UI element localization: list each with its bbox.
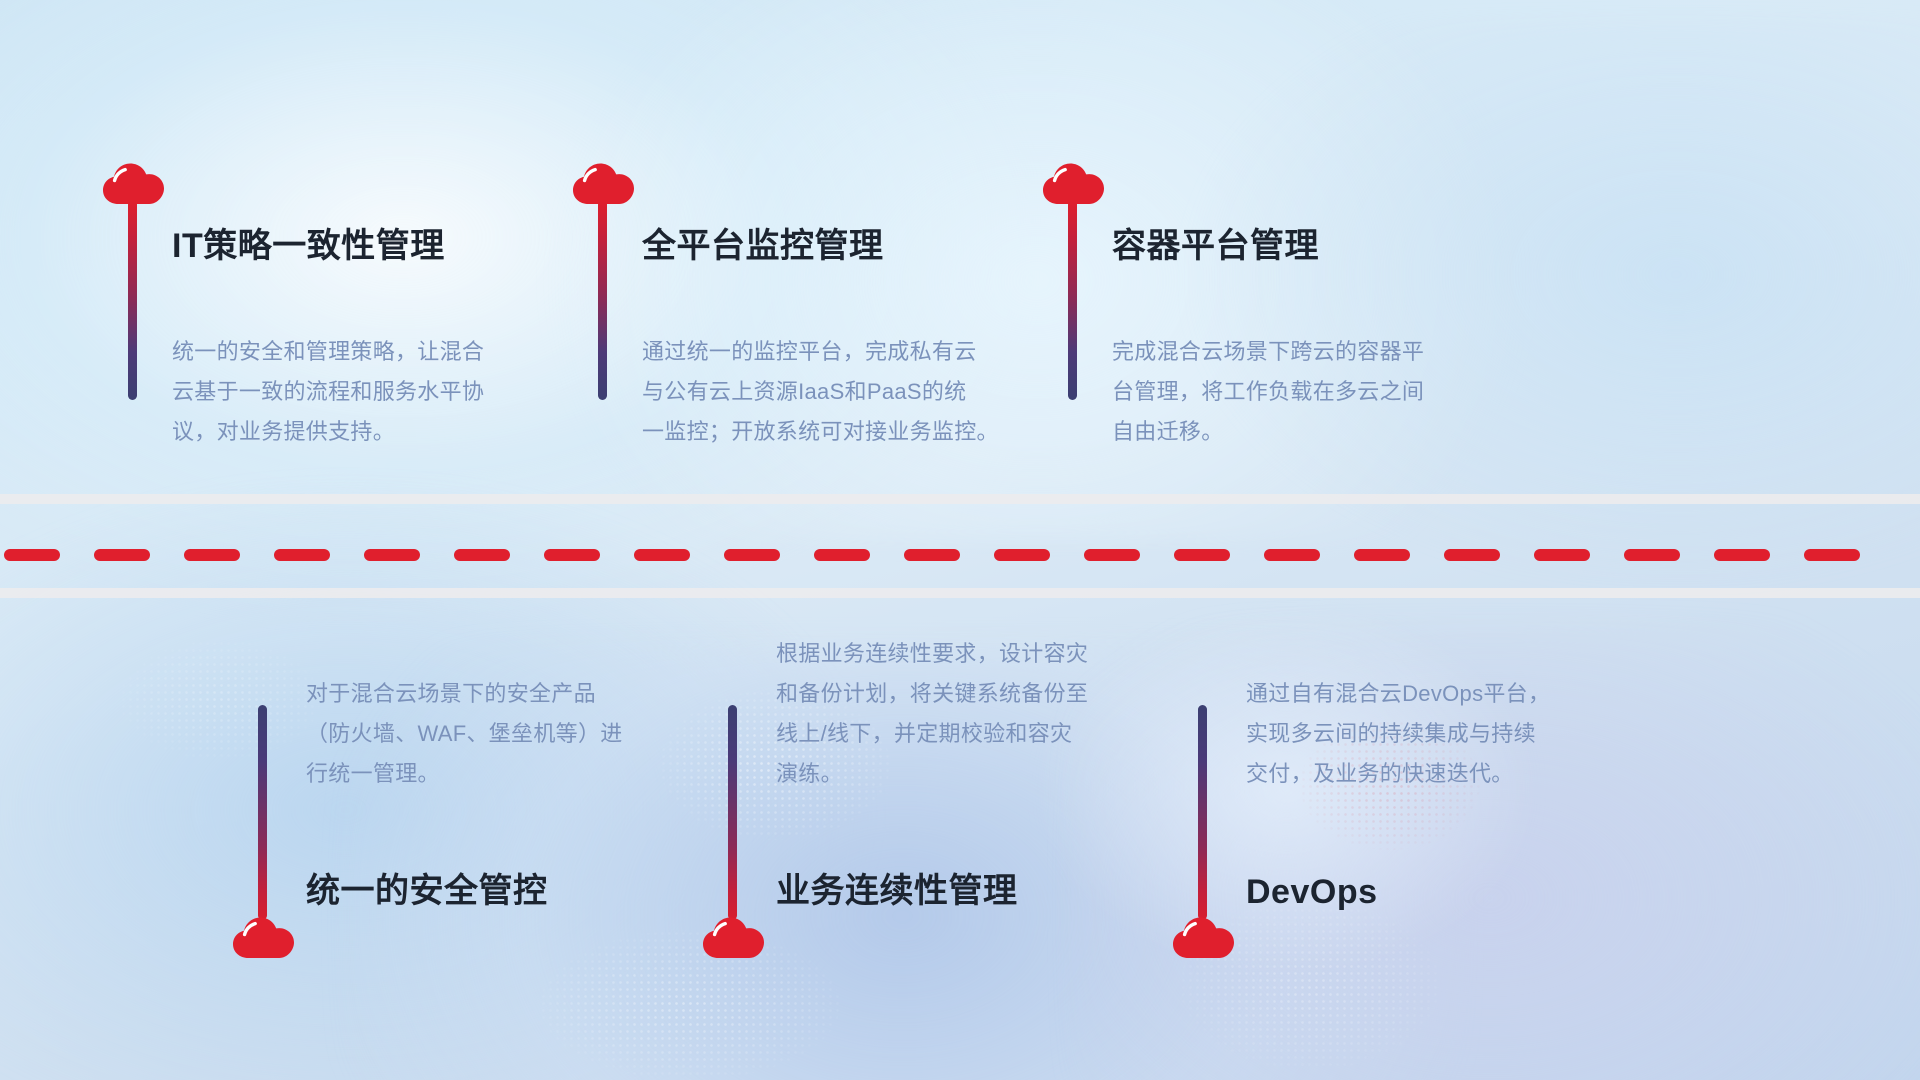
divider-dash bbox=[4, 549, 60, 561]
bottom-column-2-title: 业务连续性管理 bbox=[776, 863, 1018, 912]
divider-dash bbox=[184, 549, 240, 561]
connector-line bbox=[258, 705, 267, 920]
bottom-column-2: 根据业务连续性要求，设计容灾 和备份计划，将关键系统备份至 线上/线下，并定期校… bbox=[700, 610, 1220, 960]
bottom-column-3-body: 通过自有混合云DevOps平台， 实现多云间的持续集成与持续 交付，及业务的快速… bbox=[1246, 674, 1676, 794]
cloud-icon bbox=[230, 914, 294, 960]
top-column-2-title: 全平台监控管理 bbox=[642, 218, 884, 267]
infographic-canvas: IT策略一致性管理 统一的安全和管理策略，让混合 云基于一致的流程和服务水平协 … bbox=[0, 0, 1920, 1080]
bottom-column-3-title: DevOps bbox=[1246, 873, 1378, 912]
divider-dash bbox=[1804, 549, 1860, 561]
bottom-column-1-title: 统一的安全管控 bbox=[306, 863, 548, 912]
bottom-column-1-body: 对于混合云场景下的安全产品 （防火墙、WAF、堡垒机等）进 行统一管理。 bbox=[306, 674, 736, 794]
divider-dash bbox=[274, 549, 330, 561]
connector-line bbox=[598, 200, 607, 400]
divider-band-bottom bbox=[0, 588, 1920, 598]
divider-dash bbox=[994, 549, 1050, 561]
divider-dash bbox=[1444, 549, 1500, 561]
bottom-column-3: 通过自有混合云DevOps平台， 实现多云间的持续集成与持续 交付，及业务的快速… bbox=[1170, 610, 1690, 960]
divider-dash bbox=[364, 549, 420, 561]
divider-dash bbox=[454, 549, 510, 561]
connector-line bbox=[1068, 200, 1077, 400]
top-column-2-body: 通过统一的监控平台，完成私有云 与公有云上资源IaaS和PaaS的统 一监控；开… bbox=[642, 332, 1072, 452]
top-column-1-title: IT策略一致性管理 bbox=[172, 218, 445, 267]
connector-line bbox=[128, 200, 137, 400]
connector-line bbox=[728, 705, 737, 920]
cloud-icon bbox=[700, 914, 764, 960]
divider-dash bbox=[904, 549, 960, 561]
connector-line bbox=[1198, 705, 1207, 920]
divider-dash bbox=[1264, 549, 1320, 561]
divider-dash bbox=[1534, 549, 1590, 561]
bottom-column-1: 对于混合云场景下的安全产品 （防火墙、WAF、堡垒机等）进 行统一管理。 统一的… bbox=[230, 610, 750, 960]
divider-dash bbox=[1084, 549, 1140, 561]
divider-dash bbox=[814, 549, 870, 561]
divider-dash bbox=[94, 549, 150, 561]
divider-dash bbox=[544, 549, 600, 561]
bottom-column-2-body: 根据业务连续性要求，设计容灾 和备份计划，将关键系统备份至 线上/线下，并定期校… bbox=[776, 634, 1206, 794]
top-column-1: IT策略一致性管理 统一的安全和管理策略，让混合 云基于一致的流程和服务水平协 … bbox=[100, 160, 620, 480]
divider-dash bbox=[634, 549, 690, 561]
divider-dash bbox=[1624, 549, 1680, 561]
top-column-3-title: 容器平台管理 bbox=[1112, 218, 1319, 267]
top-column-3: 容器平台管理 完成混合云场景下跨云的容器平 台管理，将工作负载在多云之间 自由迁… bbox=[1040, 160, 1560, 480]
top-column-2: 全平台监控管理 通过统一的监控平台，完成私有云 与公有云上资源IaaS和PaaS… bbox=[570, 160, 1090, 480]
divider-band-top bbox=[0, 494, 1920, 504]
divider-dash bbox=[1174, 549, 1230, 561]
dashed-red-line bbox=[0, 549, 1920, 561]
top-column-3-body: 完成混合云场景下跨云的容器平 台管理，将工作负载在多云之间 自由迁移。 bbox=[1112, 332, 1542, 452]
divider-dash bbox=[724, 549, 780, 561]
cloud-icon bbox=[1170, 914, 1234, 960]
top-column-1-body: 统一的安全和管理策略，让混合 云基于一致的流程和服务水平协 议，对业务提供支持。 bbox=[172, 332, 602, 452]
divider-dash bbox=[1354, 549, 1410, 561]
divider-dash bbox=[1714, 549, 1770, 561]
